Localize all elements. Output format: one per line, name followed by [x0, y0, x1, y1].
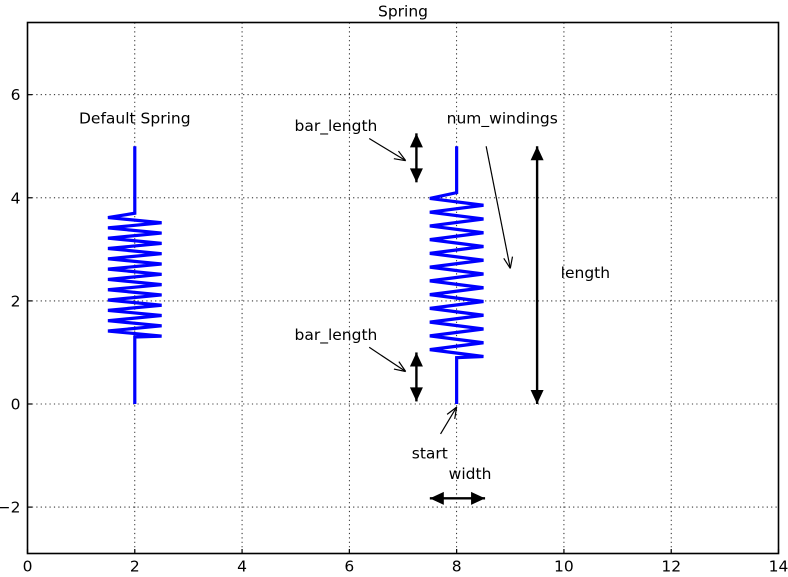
- annotation-length-label: length: [561, 264, 610, 282]
- spring-plot-svg: 02468101214 −20246 Default Springbar_len…: [0, 0, 788, 577]
- annotation-start-label: start: [412, 444, 448, 462]
- y-tick-label: 4: [11, 189, 21, 207]
- x-tick-label: 14: [769, 558, 788, 576]
- y-tick-label: 2: [11, 292, 21, 310]
- x-tick-label: 0: [23, 558, 33, 576]
- annotation-width-label: width: [449, 465, 492, 483]
- y-tick-label: 6: [11, 86, 21, 104]
- annotation-num-windings-label: num_windings: [447, 109, 558, 128]
- annotation-bar-length-top-label: bar_length: [295, 117, 378, 136]
- chart-title: Spring: [378, 3, 428, 21]
- y-tick-label: 0: [11, 395, 21, 413]
- x-tick-label: 10: [554, 558, 574, 576]
- spring-figure: 02468101214 −20246 Default Springbar_len…: [0, 0, 788, 577]
- x-tick-label: 2: [130, 558, 140, 576]
- annotation-bar-length-bottom-label: bar_length: [295, 326, 378, 345]
- annotation-default-spring-label: Default Spring: [79, 109, 191, 127]
- x-tick-label: 12: [661, 558, 681, 576]
- x-tick-label: 8: [452, 558, 462, 576]
- x-tick-label: 4: [237, 558, 247, 576]
- x-tick-label: 6: [344, 558, 354, 576]
- y-tick-label: −2: [0, 499, 21, 517]
